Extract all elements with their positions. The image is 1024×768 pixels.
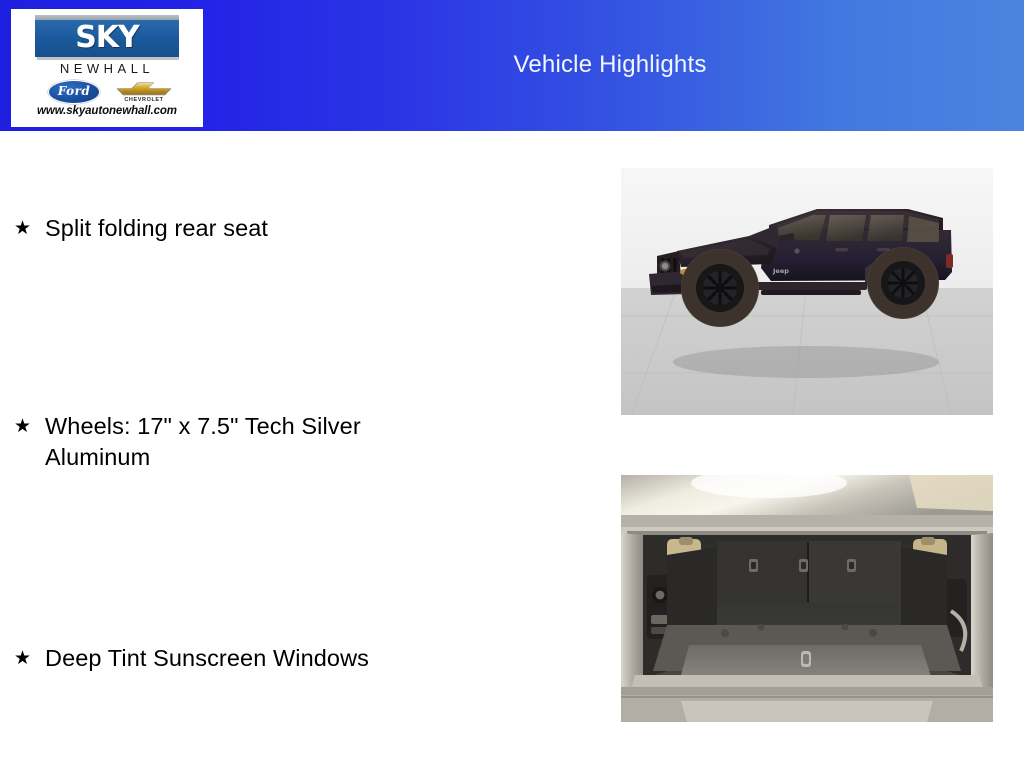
dealer-website-url[interactable]: www.skyautonewhall.com (11, 105, 203, 117)
star-bullet-icon: ★ (14, 411, 45, 442)
ford-wordmark: Ford (49, 81, 99, 103)
list-item: ★ Wheels: 17" x 7.5" Tech Silver Aluminu… (14, 411, 534, 473)
chevrolet-wordmark: CHEVROLET (115, 97, 173, 103)
star-bullet-icon: ★ (14, 213, 45, 244)
sky-brand-wordmark: SKY (35, 20, 179, 57)
svg-text:Jeep: Jeep (772, 267, 789, 275)
vehicle-exterior-photo[interactable]: Jeep (621, 168, 993, 415)
dealer-logo-artwork: SKY NEWHALL Ford (11, 9, 203, 127)
page-header: SKY NEWHALL Ford (0, 0, 1024, 131)
vehicle-cargo-photo[interactable] (621, 475, 993, 722)
vehicle-highlights-list: ★ Split folding rear seat ★ Wheels: 17" … (0, 131, 600, 768)
star-bullet-icon: ★ (14, 643, 45, 674)
sky-brand-shadow (37, 57, 179, 60)
highlight-label: Split folding rear seat (45, 213, 465, 244)
highlight-label: Deep Tint Sunscreen Windows (45, 643, 465, 674)
chevrolet-logo-icon: CHEVROLET (115, 79, 173, 105)
list-item: ★ Split folding rear seat (14, 213, 534, 244)
ford-logo-icon: Ford (48, 80, 100, 104)
slide-body: ★ Split folding rear seat ★ Wheels: 17" … (0, 131, 1024, 768)
dealer-location-label: NEWHALL (11, 61, 203, 76)
page-title: Vehicle Highlights (260, 51, 960, 79)
highlight-label: Wheels: 17" x 7.5" Tech Silver Aluminum (45, 411, 465, 473)
dealer-logo[interactable]: SKY NEWHALL Ford (11, 9, 203, 127)
sky-brand-block: SKY (35, 15, 179, 57)
list-item: ★ Deep Tint Sunscreen Windows (14, 643, 534, 674)
